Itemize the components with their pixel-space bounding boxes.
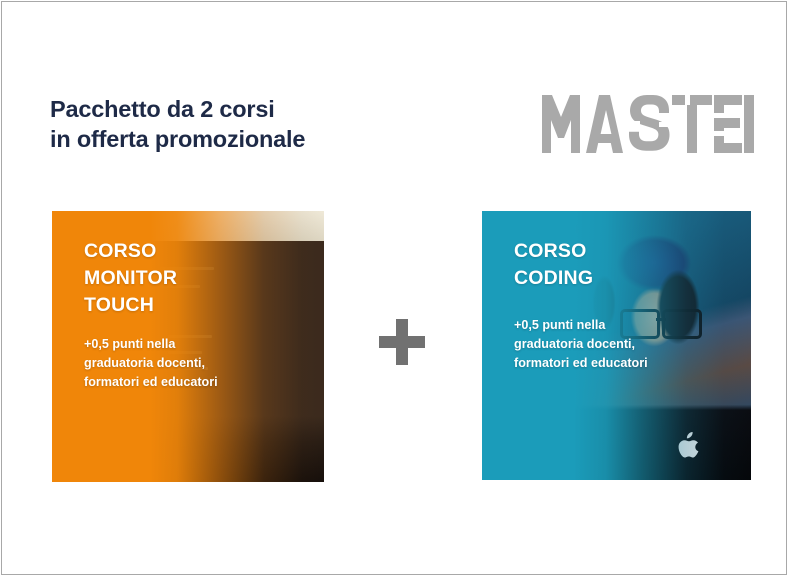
- course-card-monitor-touch[interactable]: CORSO MONITOR TOUCH +0,5 punti nella gra…: [52, 211, 324, 482]
- page-canvas: Pacchetto da 2 corsi in offerta promozio…: [1, 1, 787, 575]
- page-title: Pacchetto da 2 corsi in offerta promozio…: [50, 94, 390, 154]
- course-card-content: CORSO CODING +0,5 punti nella graduatori…: [514, 211, 741, 480]
- course-title-line-1: CORSO: [84, 238, 177, 265]
- course-title-line-2: MONITOR: [84, 265, 177, 292]
- course-title-line-1: CORSO: [514, 238, 593, 265]
- course-subtitle-line-3: formatori ed educatori: [514, 354, 648, 373]
- course-title: CORSO CODING: [514, 238, 593, 292]
- course-subtitle: +0,5 punti nella graduatoria docenti, fo…: [84, 335, 218, 392]
- master-logo-glyphs: [542, 95, 754, 153]
- course-subtitle-line-1: +0,5 punti nella: [84, 335, 218, 354]
- headline-line-1: Pacchetto da 2 corsi: [50, 94, 390, 124]
- course-subtitle-line-1: +0,5 punti nella: [514, 316, 648, 335]
- plus-icon: [379, 319, 425, 365]
- course-subtitle-line-2: graduatoria docenti,: [514, 335, 648, 354]
- course-subtitle: +0,5 punti nella graduatoria docenti, fo…: [514, 316, 648, 373]
- course-card-coding[interactable]: CORSO CODING +0,5 punti nella graduatori…: [482, 211, 751, 480]
- course-title-line-2: CODING: [514, 265, 593, 292]
- plus-icon-vertical-bar: [396, 319, 408, 365]
- course-title: CORSO MONITOR TOUCH: [84, 238, 177, 319]
- course-card-content: CORSO MONITOR TOUCH +0,5 punti nella gra…: [84, 211, 314, 482]
- master-logo: [542, 95, 754, 153]
- course-title-line-3: TOUCH: [84, 292, 177, 319]
- headline-line-2: in offerta promozionale: [50, 124, 390, 154]
- course-subtitle-line-3: formatori ed educatori: [84, 373, 218, 392]
- course-subtitle-line-2: graduatoria docenti,: [84, 354, 218, 373]
